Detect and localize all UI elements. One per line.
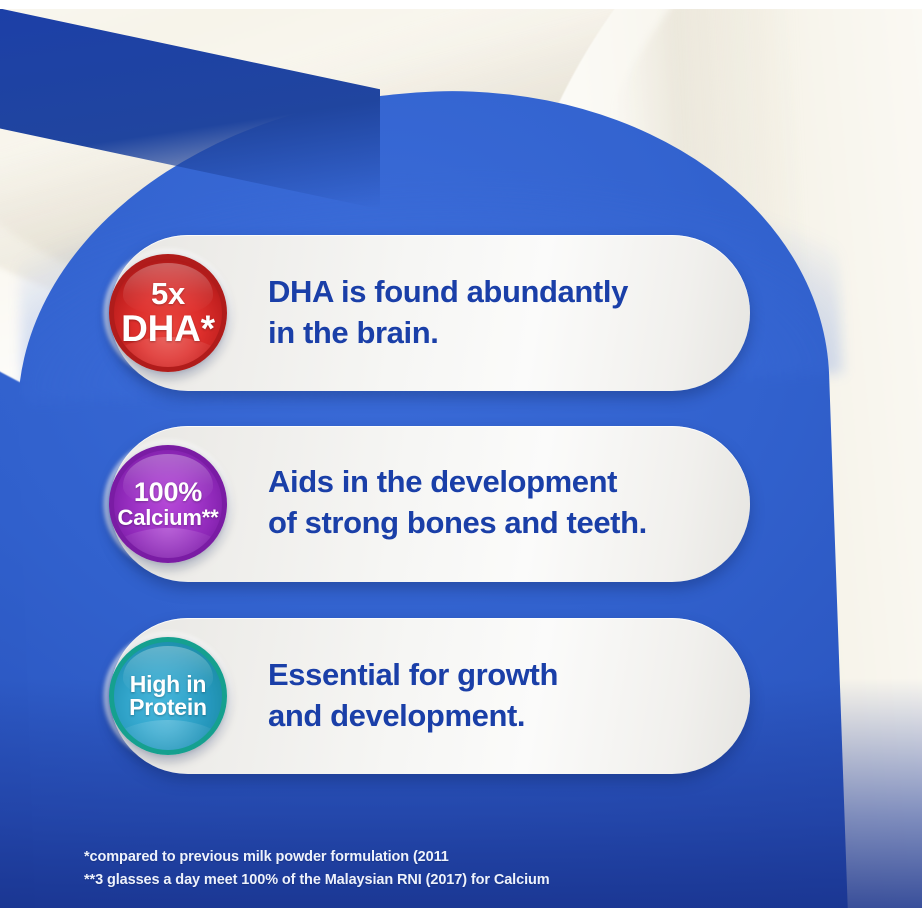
benefit-text-line1: Aids in the development <box>268 462 738 503</box>
protein-badge-line2: Protein <box>129 696 207 719</box>
calcium-badge: 100% Calcium** <box>98 434 238 574</box>
protein-badge: High in Protein <box>98 626 238 766</box>
dha-badge-line2: DHA* <box>121 310 215 348</box>
protein-badge-circle: High in Protein <box>109 637 227 755</box>
footnote-line-2: **3 glasses a day meet 100% of the Malay… <box>84 869 550 892</box>
benefit-card-list: 5x DHA* 100% Calcium** High in Protein D… <box>0 0 922 922</box>
benefit-text: Essential for growth and development. <box>268 655 738 737</box>
calcium-badge-line2: Calcium** <box>118 507 219 529</box>
dha-badge-line1: 5x <box>151 278 185 310</box>
calcium-badge-line1: 100% <box>134 479 202 507</box>
protein-badge-line1: High in <box>130 673 207 696</box>
benefit-text: DHA is found abundantly in the brain. <box>268 272 738 354</box>
benefit-text-line2: in the brain. <box>268 313 738 354</box>
dha-badge-circle: 5x DHA* <box>109 254 227 372</box>
benefit-text-line2: and development. <box>268 696 738 737</box>
footnote-line-1: *compared to previous milk powder formul… <box>84 846 550 869</box>
product-benefits-infographic: 5x DHA* 100% Calcium** High in Protein D… <box>0 0 922 922</box>
benefit-text-line1: DHA is found abundantly <box>268 272 738 313</box>
calcium-badge-circle: 100% Calcium** <box>109 445 227 563</box>
footnotes: *compared to previous milk powder formul… <box>84 846 550 893</box>
dha-badge: 5x DHA* <box>98 243 238 383</box>
benefit-text-line2: of strong bones and teeth. <box>268 503 738 544</box>
benefit-text: Aids in the development of strong bones … <box>268 462 738 544</box>
benefit-text-line1: Essential for growth <box>268 655 738 696</box>
